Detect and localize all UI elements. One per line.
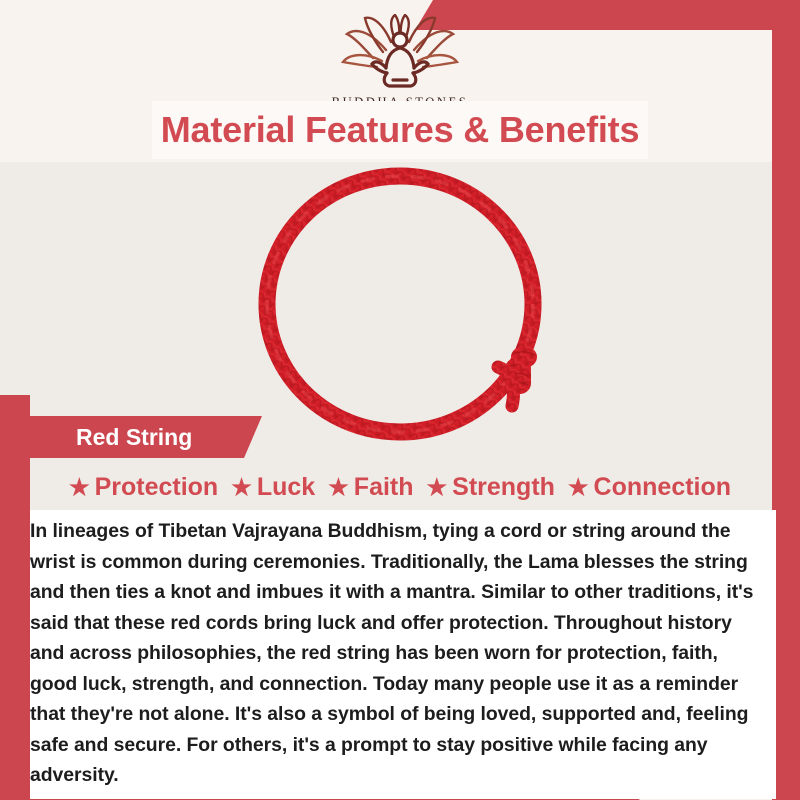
benefit-label: Connection: [594, 473, 732, 502]
benefit-item: ★ Connection: [568, 473, 731, 502]
description-text: In lineages of Tibetan Vajrayana Buddhis…: [30, 516, 768, 791]
benefit-label: Faith: [354, 473, 414, 502]
benefit-item: ★ Luck: [231, 473, 315, 502]
description-panel: In lineages of Tibetan Vajrayana Buddhis…: [30, 510, 776, 799]
benefit-item: ★ Strength: [427, 473, 555, 502]
material-flag-label: Red String: [22, 424, 236, 451]
benefits-row: ★ Protection ★ Luck ★ Faith ★ Strength ★…: [0, 466, 800, 508]
benefit-item: ★ Faith: [328, 473, 413, 502]
title-banner: Material Features & Benefits: [152, 101, 648, 159]
star-icon: ★: [568, 476, 589, 499]
material-flag: Red String: [22, 416, 262, 458]
star-icon: ★: [69, 476, 90, 499]
benefit-label: Luck: [257, 473, 315, 502]
star-icon: ★: [328, 476, 349, 499]
lotus-meditation-logo-icon: [325, 14, 475, 92]
benefit-label: Strength: [452, 473, 555, 502]
brand-logo: BUDDHA STONES: [0, 14, 800, 110]
poster-canvas: BUDDHA STONES Material Features & Benefi…: [0, 0, 800, 800]
star-icon: ★: [427, 476, 448, 499]
page-title: Material Features & Benefits: [161, 109, 640, 151]
benefit-item: ★ Protection: [69, 473, 218, 502]
star-icon: ★: [231, 476, 252, 499]
benefit-label: Protection: [95, 473, 219, 502]
